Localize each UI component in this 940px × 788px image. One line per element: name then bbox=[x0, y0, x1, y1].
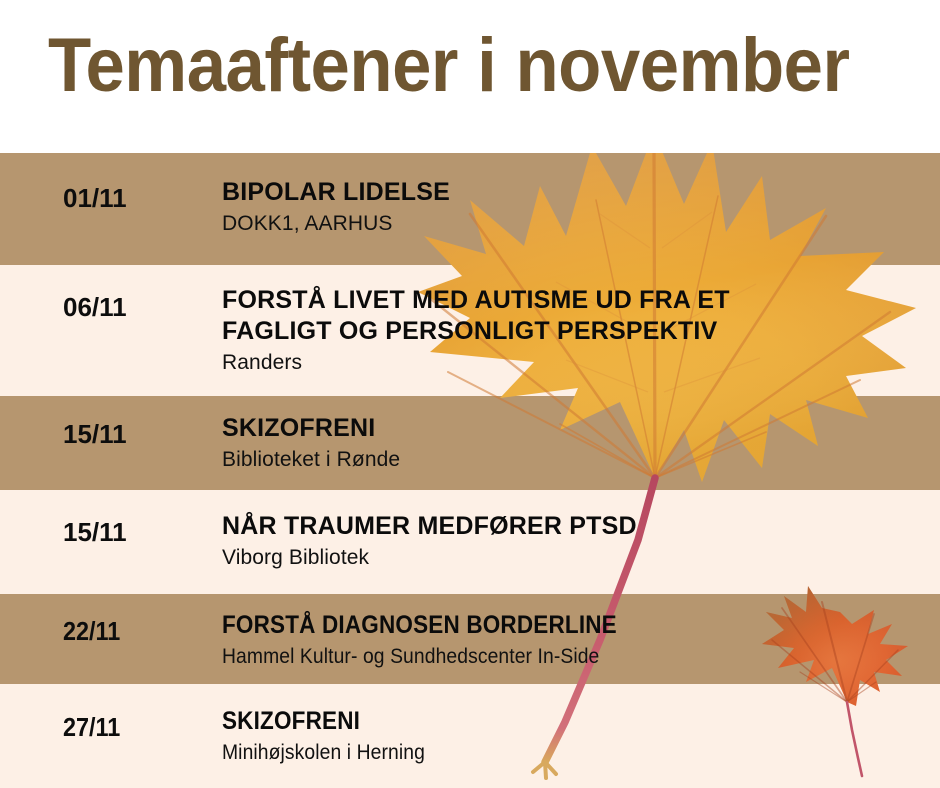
schedule-row[interactable]: 27/11SKIZOFRENIMinihøjskolen i Herning bbox=[0, 684, 940, 788]
schedule-row[interactable]: 01/11BIPOLAR LIDELSEDOKK1, AARHUS bbox=[0, 153, 940, 265]
schedule-row[interactable]: 06/11FORSTÅ LIVET MED AUTISME UD FRA ET … bbox=[0, 265, 940, 396]
header: Temaaftener i november bbox=[0, 0, 940, 153]
page-title: Temaaftener i november bbox=[48, 26, 850, 106]
event-date: 15/11 bbox=[63, 517, 127, 548]
event-date: 06/11 bbox=[63, 292, 127, 323]
event-location: DOKK1, AARHUS bbox=[222, 210, 930, 237]
schedule-row[interactable]: 15/11SKIZOFRENIBiblioteket i Rønde bbox=[0, 396, 940, 490]
poster: Temaaftener i november 01/11BIPOLAR LIDE… bbox=[0, 0, 940, 788]
schedule-row[interactable]: 22/11FORSTÅ DIAGNOSEN BORDERLINEHammel K… bbox=[0, 594, 940, 684]
event-body: FORSTÅ DIAGNOSEN BORDERLINEHammel Kultur… bbox=[222, 610, 930, 670]
event-date: 01/11 bbox=[63, 183, 127, 214]
schedule-row[interactable]: 15/11NÅR TRAUMER MEDFØRER PTSDViborg Bib… bbox=[0, 490, 940, 594]
event-location: Hammel Kultur- og Sundhedscenter In-Side bbox=[222, 643, 873, 670]
event-body: BIPOLAR LIDELSEDOKK1, AARHUS bbox=[222, 177, 930, 237]
event-body: SKIZOFRENIBiblioteket i Rønde bbox=[222, 413, 930, 473]
event-date: 27/11 bbox=[63, 712, 120, 743]
schedule-list: 01/11BIPOLAR LIDELSEDOKK1, AARHUS06/11FO… bbox=[0, 153, 940, 788]
event-title: BIPOLAR LIDELSE bbox=[222, 177, 930, 208]
event-title: SKIZOFRENI bbox=[222, 706, 859, 737]
event-title: SKIZOFRENI bbox=[222, 413, 930, 444]
event-title: FORSTÅ LIVET MED AUTISME UD FRA ET FAGLI… bbox=[222, 285, 930, 347]
event-title: FORSTÅ DIAGNOSEN BORDERLINE bbox=[222, 610, 859, 641]
event-body: FORSTÅ LIVET MED AUTISME UD FRA ET FAGLI… bbox=[222, 285, 930, 376]
event-date: 15/11 bbox=[63, 419, 127, 450]
event-title: NÅR TRAUMER MEDFØRER PTSD bbox=[222, 511, 930, 542]
event-body: SKIZOFRENIMinihøjskolen i Herning bbox=[222, 706, 930, 766]
event-body: NÅR TRAUMER MEDFØRER PTSDViborg Bibliote… bbox=[222, 511, 930, 571]
event-location: Viborg Bibliotek bbox=[222, 544, 930, 571]
event-date: 22/11 bbox=[63, 616, 120, 647]
event-location: Biblioteket i Rønde bbox=[222, 446, 930, 473]
event-location: Minihøjskolen i Herning bbox=[222, 739, 873, 766]
event-location: Randers bbox=[222, 349, 930, 376]
